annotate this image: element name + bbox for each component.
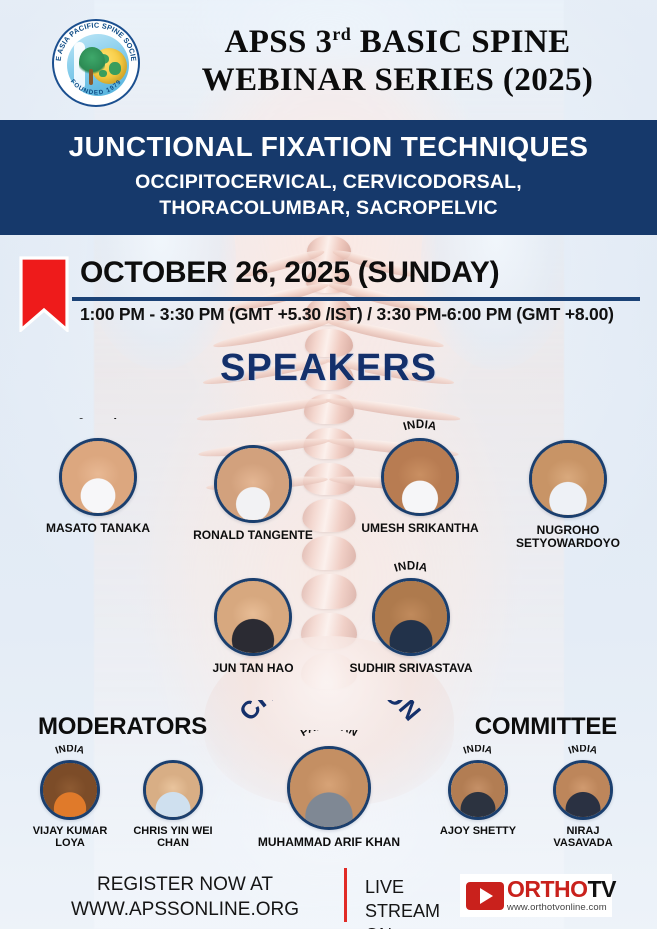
topic-title: JUNCTIONAL FIXATION TECHNIQUES	[0, 131, 657, 163]
committee-name: AJOY SHETTY	[418, 825, 538, 837]
chairperson-heading: CHAIRPERSON	[234, 700, 426, 726]
speaker-name: UMESH SRIKANTHA	[345, 522, 495, 535]
committee-heading: COMMITTEE	[475, 713, 617, 741]
event-date: OCTOBER 26, 2025 (SUNDAY)	[80, 256, 640, 290]
country-label: INDIA	[393, 560, 429, 574]
event-time: 1:00 PM - 3:30 PM (GMT +5.30 /IST) / 3:3…	[80, 304, 640, 325]
moderator-photo	[143, 760, 203, 820]
country-label: MALAYSIA	[145, 745, 201, 746]
event-datetime-block: OCTOBER 26, 2025 (SUNDAY) 1:00 PM - 3:30…	[0, 246, 657, 338]
country-label: INDIA	[462, 745, 493, 757]
topic-subtitle-line1: OCCIPITOCERVICAL, CERVICODORSAL,	[0, 169, 657, 195]
orthotv-url: www.orthotvonline.com	[507, 902, 616, 913]
poster-canvas: THE ASIA PACIFIC SPINE SOCIETY FOUNDED 1…	[0, 0, 657, 929]
speaker-name: NUGROHO SETYOWARDOYO	[493, 524, 643, 551]
orthotv-logo[interactable]: ORTHOTV www.orthotvonline.com	[460, 874, 612, 917]
poster-title: APSS 3rd BASIC SPINE WEBINAR SERIES (202…	[150, 24, 645, 99]
moderator-photo	[40, 760, 100, 820]
speaker-photo	[59, 438, 137, 516]
speaker-name: MASATO TANAKA	[33, 522, 163, 535]
country-label: PAKISTAN	[299, 730, 360, 739]
livestream-label-line1: LIVE	[365, 876, 465, 900]
apss-logo-ring-text: THE ASIA PACIFIC SPINE SOCIETY FOUNDED 1…	[54, 21, 138, 105]
poster-title-line2: WEBINAR SERIES (2025)	[150, 62, 645, 100]
svg-text:THE ASIA PACIFIC SPINE SOCIETY: THE ASIA PACIFIC SPINE SOCIETY	[54, 21, 138, 62]
speaker-photo	[529, 440, 607, 518]
play-button-icon	[466, 882, 504, 910]
svg-text:JAPAN: JAPAN	[77, 418, 120, 422]
chairperson-photo	[287, 746, 371, 830]
poster-title-line1-post: BASIC SPINE	[351, 24, 570, 60]
logo-ring-bottom-text: FOUNDED 1979	[69, 78, 123, 96]
topic-subtitle-line2: THORACOLUMBAR, SACROPELVIC	[0, 195, 657, 221]
poster-header: THE ASIA PACIFIC SPINE SOCIETY FOUNDED 1…	[0, 0, 657, 118]
svg-text:PAKISTAN: PAKISTAN	[299, 730, 360, 739]
topic-banner: JUNCTIONAL FIXATION TECHNIQUES OCCIPITOC…	[0, 120, 657, 235]
committee-photo	[553, 760, 613, 820]
speaker-name: RONALD TANGENTE	[178, 529, 328, 542]
committee-photo	[448, 760, 508, 820]
svg-text:CHAIRPERSON: CHAIRPERSON	[234, 700, 426, 726]
date-divider	[72, 297, 640, 301]
logo-ring-top-text: THE ASIA PACIFIC SPINE SOCIETY	[54, 21, 138, 62]
speaker-photo	[381, 438, 459, 516]
svg-text:INDIA: INDIA	[393, 560, 429, 574]
svg-text:INDIA: INDIA	[402, 419, 438, 433]
register-label: REGISTER NOW AT	[40, 872, 330, 897]
chairperson-name: MUHAMMAD ARIF KHAN	[234, 836, 424, 849]
committee-name: NIRAJ VASAVADA	[523, 825, 643, 850]
svg-text:MALAYSIA: MALAYSIA	[145, 745, 201, 746]
moderators-heading: MODERATORS	[38, 713, 207, 741]
speakers-heading: SPEAKERS	[0, 347, 657, 390]
registration-info: REGISTER NOW AT WWW.APSSONLINE.ORG	[40, 872, 330, 923]
poster-title-line1: APSS 3rd BASIC SPINE	[150, 24, 645, 62]
bookmark-ribbon-icon	[19, 256, 69, 332]
orthotv-word-tv: TV	[588, 876, 616, 902]
apss-logo: THE ASIA PACIFIC SPINE SOCIETY FOUNDED 1…	[52, 19, 140, 107]
svg-text:INDIA: INDIA	[567, 745, 598, 757]
country-label: JAPAN	[77, 418, 120, 422]
footer-divider	[344, 868, 347, 922]
orthotv-word-ortho: ORTHO	[507, 876, 588, 902]
moderator-name: CHRIS YIN WEI CHAN	[108, 825, 238, 850]
livestream-label-line2: STREAM ON	[365, 900, 465, 929]
ordinal-suffix: rd	[332, 24, 351, 44]
speaker-name: JUN TAN HAO	[178, 662, 328, 675]
speaker-photo	[372, 578, 450, 656]
country-label: INDIA	[54, 745, 85, 757]
livestream-label: LIVE STREAM ON	[365, 876, 465, 929]
speaker-photo	[214, 445, 292, 523]
orthotv-logo-text: ORTHOTV www.orthotvonline.com	[507, 878, 616, 913]
country-label: INDIA	[567, 745, 598, 757]
poster-title-line1-pre: APSS 3	[224, 24, 332, 60]
country-label: INDIA	[402, 419, 438, 433]
speaker-photo	[214, 578, 292, 656]
speaker-name: SUDHIR SRIVASTAVA	[331, 662, 491, 675]
register-url[interactable]: WWW.APSSONLINE.ORG	[40, 897, 330, 922]
topic-subtitle: OCCIPITOCERVICAL, CERVICODORSAL, THORACO…	[0, 169, 657, 221]
svg-text:INDIA: INDIA	[54, 745, 85, 757]
svg-text:INDIA: INDIA	[462, 745, 493, 757]
svg-text:FOUNDED 1979: FOUNDED 1979	[69, 78, 123, 96]
poster-footer: REGISTER NOW AT WWW.APSSONLINE.ORG LIVE …	[0, 866, 657, 929]
